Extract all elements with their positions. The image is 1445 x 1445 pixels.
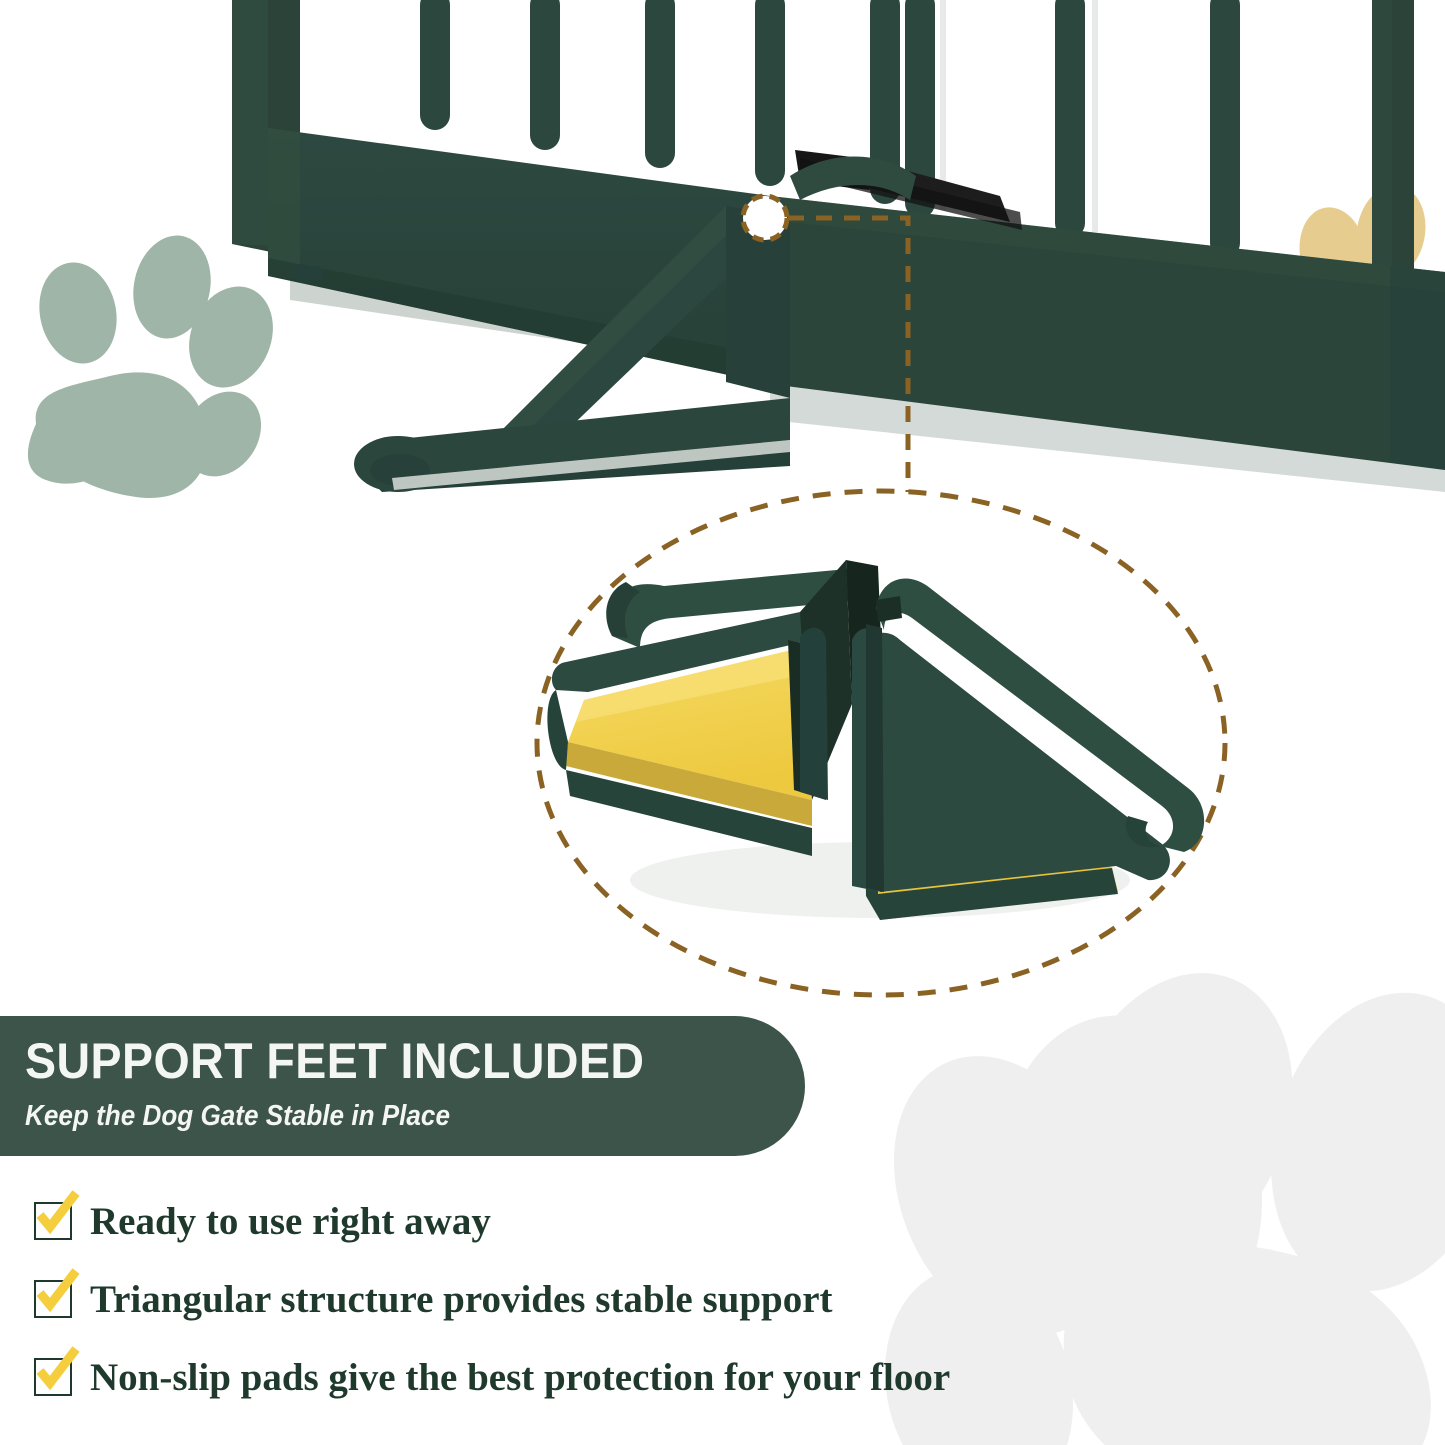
callout-marker xyxy=(743,196,787,240)
support-foot-detail xyxy=(547,560,1204,920)
feature-label: Ready to use right away xyxy=(90,1202,491,1241)
checkbox-checked-icon xyxy=(34,1358,72,1396)
feature-item: Triangular structure provides stable sup… xyxy=(34,1260,950,1338)
checkbox-checked-icon xyxy=(34,1202,72,1240)
feature-label: Non-slip pads give the best protection f… xyxy=(90,1358,950,1397)
feature-list: Ready to use right away Triangular struc… xyxy=(34,1182,950,1416)
feature-item: Non-slip pads give the best protection f… xyxy=(34,1338,950,1416)
product-image-canvas: SUPPORT FEET INCLUDED Keep the Dog Gate … xyxy=(0,0,1445,1445)
feature-label: Triangular structure provides stable sup… xyxy=(90,1280,833,1319)
dog-gate xyxy=(232,0,1445,492)
checkbox-checked-icon xyxy=(34,1280,72,1318)
banner-title: SUPPORT FEET INCLUDED xyxy=(25,1036,644,1086)
banner-subtitle: Keep the Dog Gate Stable in Place xyxy=(25,1102,450,1131)
feature-banner: SUPPORT FEET INCLUDED Keep the Dog Gate … xyxy=(0,1016,805,1156)
feature-item: Ready to use right away xyxy=(34,1182,950,1260)
paw-print-sage xyxy=(28,228,288,498)
